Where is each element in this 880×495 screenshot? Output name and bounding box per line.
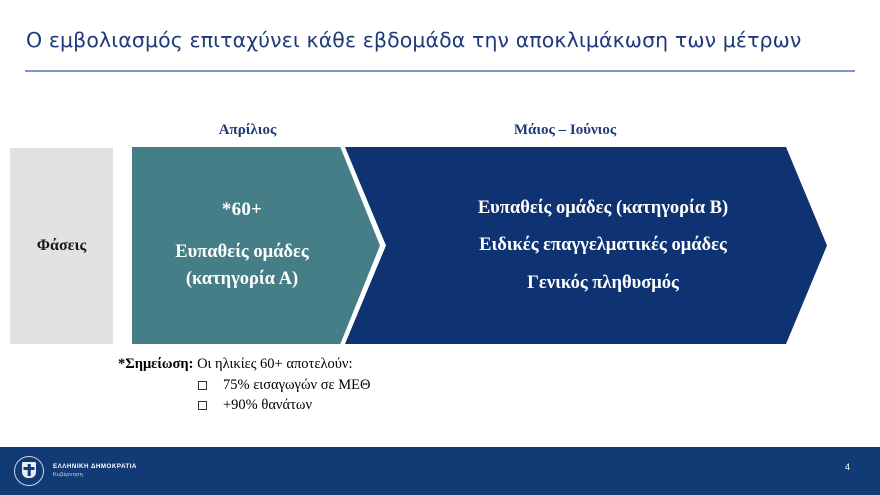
phase-caption-may-june: Μάιος – Ιούνιος xyxy=(430,122,700,139)
footnote-item-text: 75% εισαγωγών σε ΜΕΘ xyxy=(223,377,370,394)
footer-text-block: ΕΛΛΗΝΙΚΗ ΔΗΜΟΚΡΑΤΙΑ Κυβέρνηση xyxy=(53,463,137,480)
page-title: Ο εμβολιασμός επιταχύνει κάθε εβδομάδα τ… xyxy=(26,28,854,52)
footer-org-subtitle: Κυβέρνηση xyxy=(53,472,137,479)
square-bullet-icon xyxy=(198,381,207,390)
greek-coat-of-arms-icon xyxy=(14,456,44,486)
footnote-list-item: 75% εισαγωγών σε ΜΕΘ xyxy=(198,377,370,394)
chevron-phase-may-june: Ευπαθείς ομάδες (κατηγορία Β) Ειδικές επ… xyxy=(345,147,827,344)
cross-icon xyxy=(24,467,35,470)
square-bullet-icon xyxy=(198,401,207,410)
phases-box: Φάσεις xyxy=(10,148,113,344)
footnote-item-text: +90% θανάτων xyxy=(223,397,312,414)
chevron-mayjune-line-3: Γενικός πληθυσμός xyxy=(403,270,803,296)
footnote-lead-line: *Σημείωση: Οι ηλικίες 60+ αποτελούν: xyxy=(118,356,370,373)
cross-icon xyxy=(28,464,31,476)
footnote-list-item: +90% θανάτων xyxy=(198,397,370,414)
footer-org-title: ΕΛΛΗΝΙΚΗ ΔΗΜΟΚΡΑΤΙΑ xyxy=(53,463,137,471)
chevron-mayjune-line-1: Ευπαθείς ομάδες (κατηγορία Β) xyxy=(403,195,803,221)
footnote-lead-text: Οι ηλικίες 60+ αποτελούν: xyxy=(193,356,352,372)
chevron-mayjune-line-2: Ειδικές επαγγελματικές ομάδες xyxy=(403,232,803,258)
footer-branding: ΕΛΛΗΝΙΚΗ ΔΗΜΟΚΡΑΤΙΑ Κυβέρνηση xyxy=(14,456,137,486)
chevron-april-line-2: (κατηγορία Α) xyxy=(147,266,337,292)
footnote: *Σημείωση: Οι ηλικίες 60+ αποτελούν: 75%… xyxy=(118,356,370,414)
page-number: 4 xyxy=(845,462,850,472)
chevron-april-line-1: Ευπαθείς ομάδες xyxy=(147,239,337,265)
chevron-phase-april: *60+ Ευπαθείς ομάδες (κατηγορία Α) xyxy=(132,147,380,344)
title-divider xyxy=(25,70,855,72)
phase-caption-april: Απρίλιος xyxy=(140,122,355,139)
chevron-april-lead: *60+ xyxy=(147,199,337,221)
footnote-list: 75% εισαγωγών σε ΜΕΘ +90% θανάτων xyxy=(118,377,370,414)
phases-box-label: Φάσεις xyxy=(37,237,86,255)
footnote-label: *Σημείωση: xyxy=(118,356,193,372)
